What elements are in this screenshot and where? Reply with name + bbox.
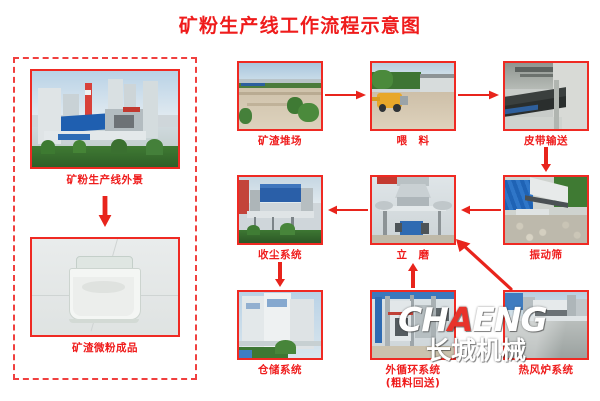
flow-node-dust-collection: 收尘系统	[237, 175, 323, 262]
arrow-slag-yard-to-feeding	[325, 89, 367, 101]
arrow-feeding-to-belt-conveying	[458, 89, 500, 101]
showcase-caption-exterior: 矿粉生产线外景	[30, 174, 180, 187]
flow-caption-slag-yard: 矿渣堆场	[237, 135, 323, 148]
photo-slag-yard	[237, 61, 323, 131]
flow-node-vibrating-screen: 振动筛	[503, 175, 589, 262]
page-title: 矿粉生产线工作流程示意图	[0, 14, 600, 38]
flow-node-storage-system: 仓储系统	[237, 290, 323, 377]
left-showcase-panel: 矿粉生产线外景 矿渣微粉成品	[13, 57, 197, 380]
flow-node-outer-circulation: 外循环系统 (粗料回送)	[370, 290, 456, 390]
flow-caption-outer-circulation: 外循环系统 (粗料回送)	[370, 364, 456, 390]
photo-vibrating-screen	[503, 175, 589, 245]
process-flow-diagram: 矿渣堆场 喂 料	[225, 57, 600, 401]
photo-vertical-mill	[370, 175, 456, 245]
flow-node-feeding: 喂 料	[370, 61, 456, 148]
flow-caption-vertical-mill: 立 磨	[370, 249, 456, 262]
photo-production-line-exterior	[30, 69, 180, 169]
photo-outer-circulation-system	[370, 290, 456, 360]
showcase-card-product: 矿渣微粉成品	[30, 237, 180, 355]
photo-storage-system	[237, 290, 323, 360]
arrow-outer-circulation-to-vertical-mill	[407, 263, 419, 289]
flow-node-hot-air-furnace: 热风炉系统	[503, 290, 589, 377]
photo-belt-conveying	[503, 61, 589, 131]
photo-slag-powder-product	[30, 237, 180, 337]
photo-feeding	[370, 61, 456, 131]
flow-caption-vibrating-screen: 振动筛	[503, 249, 589, 262]
flow-node-belt-conveying: 皮带输送	[503, 61, 589, 148]
arrow-dust-collection-to-storage-system	[274, 262, 286, 288]
arrow-vertical-mill-to-dust-collection	[328, 204, 368, 216]
arrow-hot-air-furnace-to-vertical-mill	[453, 239, 515, 291]
flow-caption-hot-air-furnace: 热风炉系统	[503, 364, 589, 377]
photo-hot-air-furnace-system	[503, 290, 589, 360]
flow-node-slag-yard: 矿渣堆场	[237, 61, 323, 148]
photo-dust-collection-system	[237, 175, 323, 245]
flow-node-vertical-mill: 立 磨	[370, 175, 456, 262]
flow-caption-storage-system: 仓储系统	[237, 364, 323, 377]
showcase-caption-product: 矿渣微粉成品	[30, 342, 180, 355]
showcase-card-exterior: 矿粉生产线外景	[30, 69, 180, 187]
arrow-vibrating-screen-to-vertical-mill	[461, 204, 501, 216]
flow-caption-feeding: 喂 料	[370, 135, 456, 148]
flow-caption-outer-circulation-line1: 外循环系统	[386, 364, 441, 376]
down-arrow-icon	[98, 196, 112, 228]
arrow-belt-conveying-to-vibrating-screen	[540, 147, 552, 173]
flow-caption-outer-circulation-line2: (粗料回送)	[370, 377, 456, 390]
flow-caption-dust-collection: 收尘系统	[237, 249, 323, 262]
